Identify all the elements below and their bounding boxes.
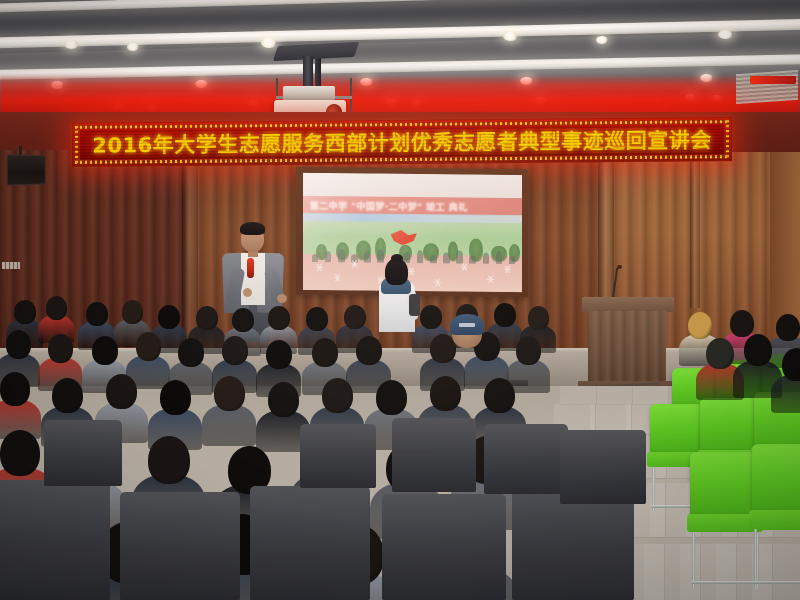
right-side-attendee-head	[744, 334, 772, 366]
projection-screen-frame: 第二中学 "中国梦·二中梦" 竣工 典礼	[296, 167, 528, 297]
slide-crowd-figure	[364, 252, 371, 263]
downlight	[64, 40, 79, 49]
shoulder-bag	[409, 294, 420, 316]
audience-member-head	[0, 430, 40, 476]
power-outlet-panel	[2, 262, 20, 269]
audience-member-head	[86, 302, 108, 326]
floor-tile	[752, 544, 800, 600]
seat-back	[382, 494, 506, 600]
audience-member-head	[430, 376, 461, 411]
audience-member-head	[196, 306, 218, 330]
seat-back	[250, 486, 370, 600]
seat-back	[120, 492, 240, 600]
audience-member-head	[136, 332, 161, 361]
audience-member-head	[268, 382, 299, 417]
seat-back	[484, 424, 568, 494]
audience-member-head	[344, 305, 366, 329]
audience-member-head	[494, 303, 516, 327]
slide-crowd-figure	[443, 253, 450, 264]
projection-screen-surface: 第二中学 "中国梦·二中梦" 竣工 典礼	[303, 173, 522, 292]
hair-bun	[391, 254, 403, 263]
audience-member-head	[148, 436, 190, 484]
wall-pillar	[690, 158, 700, 308]
slide-crowd-figure	[483, 253, 490, 264]
audience-member-head	[106, 374, 137, 409]
audience-member-head	[266, 340, 292, 369]
slide-crowd-figure	[509, 256, 516, 264]
right-side-attendee-head	[730, 310, 754, 337]
projector-mount-pole	[315, 58, 321, 88]
slide-snowflake	[316, 264, 323, 271]
slide-snowflake	[461, 263, 468, 270]
slide-snowflake	[334, 274, 341, 281]
slide-crowd-figure	[312, 254, 319, 262]
audience-member-head	[356, 336, 382, 365]
slide-crowd-figure	[469, 255, 476, 263]
downlight	[261, 38, 277, 48]
wall-mounted-speaker	[7, 154, 46, 185]
downlight	[596, 36, 608, 44]
chair-chrome-bar	[753, 581, 800, 584]
seat-back	[0, 480, 110, 600]
floor-tile	[560, 386, 597, 405]
right-side-attendee-head	[776, 314, 800, 341]
audience-member-head	[232, 308, 254, 332]
audience-member-head	[6, 330, 31, 359]
audience-member-head	[516, 336, 541, 365]
audience-member-head	[312, 338, 338, 367]
cap-logo	[459, 323, 475, 327]
audience-member-head	[46, 296, 67, 320]
downlight	[127, 43, 139, 51]
audience-member-head	[92, 336, 118, 365]
green-chair-seat	[749, 510, 800, 530]
lecture-hall-photo: 2016年大学生志愿服务西部计划优秀志愿者典型事迹巡回宣讲会 第二中学 "中国梦…	[0, 0, 800, 600]
audience-member-head	[306, 307, 328, 331]
audience-member-head	[122, 300, 143, 324]
led-banner: 2016年大学生志愿服务西部计划优秀志愿者典型事迹巡回宣讲会	[72, 117, 732, 167]
slide-snowflake	[434, 280, 441, 287]
right-side-attendee-head	[782, 348, 800, 381]
audience-member-head	[52, 378, 83, 413]
slide-crowd-figure	[456, 251, 463, 264]
air-conditioning-vent	[736, 70, 798, 104]
chair-chrome-bar	[691, 581, 761, 584]
led-banner-screen: 2016年大学生志愿服务西部计划优秀志愿者典型事迹巡回宣讲会	[80, 124, 724, 160]
podium-microphone	[617, 265, 622, 269]
slide-snowflake	[504, 266, 511, 273]
seat-back	[392, 418, 476, 492]
seat-back	[44, 420, 122, 486]
slide-crowd-figure	[430, 255, 437, 263]
presenter-hair	[240, 222, 265, 235]
podium	[588, 311, 666, 383]
audience-member-head	[484, 378, 515, 413]
audience-member-head	[14, 300, 36, 324]
green-chair-back	[700, 398, 758, 454]
seat-back	[300, 424, 376, 488]
slide-crowd-figure	[325, 251, 332, 262]
slide-crowd-figure	[338, 249, 345, 262]
slide-crowd-figure	[377, 250, 384, 263]
audience-member-head	[420, 305, 442, 329]
green-chair-back	[752, 444, 800, 514]
audience-member-head	[322, 378, 353, 413]
seat-back	[560, 430, 646, 504]
handheld-microphone	[247, 258, 254, 278]
presenter-hand-left	[243, 288, 252, 297]
audience-member-head	[158, 305, 180, 329]
presenter-hand-right	[277, 294, 287, 303]
audience-member-head	[214, 376, 245, 411]
right-side-attendee-head	[688, 312, 712, 339]
slide-crowd-figure	[417, 250, 424, 263]
projector-mount-pole	[303, 56, 313, 90]
audience-member-head	[0, 372, 30, 406]
vent-red-light	[750, 76, 796, 84]
green-chair-back	[690, 452, 758, 518]
downlight	[503, 32, 518, 41]
audience-member-head	[222, 336, 248, 365]
slide-snowflake	[408, 268, 415, 275]
slide-snowflake	[487, 275, 494, 282]
audience-member-head	[48, 334, 73, 363]
floor-tile	[632, 386, 669, 405]
slide-snowflake	[351, 260, 358, 267]
downlight	[718, 30, 733, 39]
audience-member-head	[268, 306, 290, 330]
floor-tile	[596, 386, 633, 405]
slide-crowd-figure	[496, 251, 503, 264]
right-side-attendee-head	[706, 338, 734, 369]
podium-top	[582, 297, 674, 312]
green-chair-back	[650, 404, 704, 456]
audience-member-head	[376, 380, 407, 415]
audience-member-head	[160, 380, 191, 415]
audience-member-head	[528, 306, 549, 330]
led-banner-text: 2016年大学生志愿服务西部计划优秀志愿者典型事迹巡回宣讲会	[92, 124, 711, 159]
chair-chrome-leg	[754, 529, 757, 589]
audience-member-head	[178, 338, 204, 367]
